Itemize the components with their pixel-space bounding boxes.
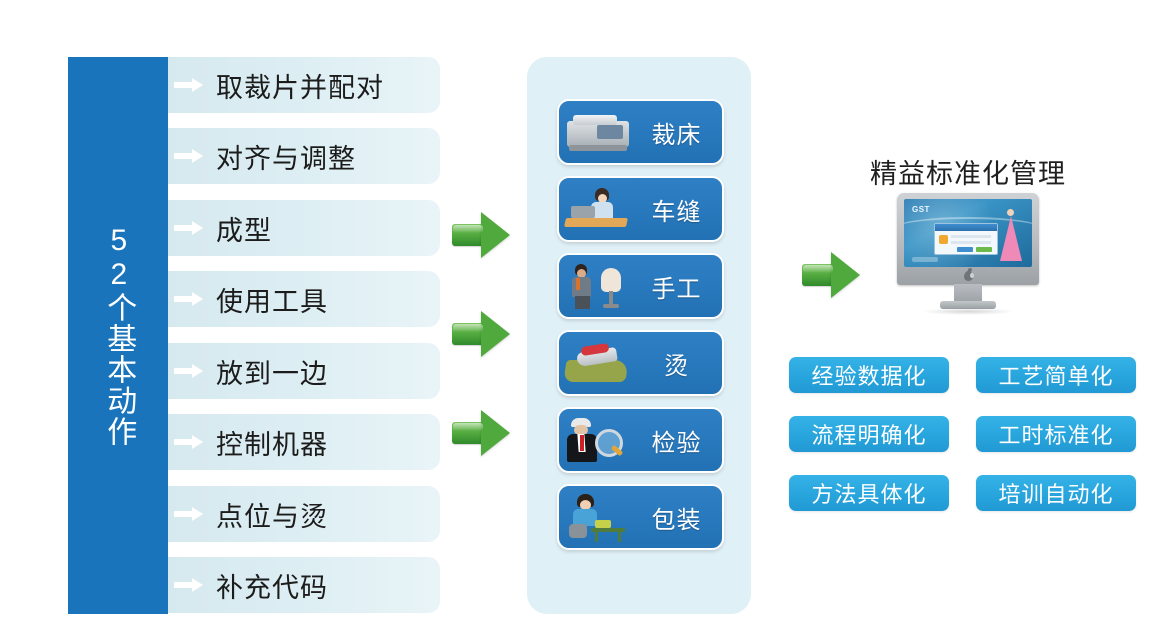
tailor-mannequin-icon	[561, 259, 635, 313]
process-step-box[interactable]: 检验	[557, 407, 724, 473]
login-submit-button	[957, 247, 973, 252]
process-step-box[interactable]: 裁床	[557, 99, 724, 165]
flow-arrow-1	[452, 212, 510, 258]
arrow-right-icon	[174, 505, 208, 523]
flow-arrow-3	[452, 410, 510, 456]
action-row[interactable]: 取裁片并配对	[168, 57, 440, 113]
action-row[interactable]: 控制机器	[168, 414, 440, 470]
action-row[interactable]: 成型	[168, 200, 440, 256]
screen-footer-bar	[912, 257, 938, 262]
benefit-tag[interactable]: 工艺简单化	[976, 357, 1136, 393]
arrow-head	[481, 311, 510, 357]
basic-actions-bar-label: 52个基本动作	[68, 57, 168, 614]
cutting-machine-icon	[561, 105, 635, 159]
process-step-label: 裁床	[635, 115, 722, 150]
figure-skirt	[1000, 216, 1022, 261]
action-row[interactable]: 对齐与调整	[168, 128, 440, 184]
arrow-right-icon	[174, 76, 208, 94]
process-step-label: 烫	[635, 346, 722, 381]
monitor-bezel: GST	[897, 193, 1039, 285]
process-step-box[interactable]: 包装	[557, 484, 724, 550]
arrow-gloss	[453, 423, 483, 431]
screen-brand-logo: GST	[912, 205, 930, 214]
benefit-tag[interactable]: 方法具体化	[789, 475, 949, 511]
arrow-head	[831, 252, 860, 298]
arrow-right-icon	[174, 362, 208, 380]
process-panel: 裁床车缝手工烫检验包装	[527, 57, 751, 614]
action-row-label: 补充代码	[216, 566, 328, 605]
login-field-row	[951, 235, 991, 238]
monitor-shadow	[921, 308, 1015, 315]
benefit-tag[interactable]: 流程明确化	[789, 416, 949, 452]
arrow-right-icon	[174, 290, 208, 308]
action-row-label: 对齐与调整	[216, 137, 356, 176]
basic-actions-section: 52个基本动作 取裁片并配对对齐与调整成型使用工具放到一边控制机器点位与烫补充代…	[68, 57, 440, 614]
action-list: 取裁片并配对对齐与调整成型使用工具放到一边控制机器点位与烫补充代码	[168, 57, 440, 614]
arrow-gloss	[453, 225, 483, 233]
screen-login-dialog	[934, 223, 998, 255]
inspector-magnifier-icon	[561, 413, 635, 467]
lean-management-title: 精益标准化管理	[858, 152, 1078, 191]
figure-head	[1007, 209, 1014, 216]
process-step-label: 车缝	[635, 192, 722, 227]
flow-arrow-2	[452, 311, 510, 357]
arrow-gloss	[803, 265, 833, 273]
action-row-label: 成型	[216, 209, 272, 248]
arrow-right-icon	[174, 219, 208, 237]
arrow-head	[481, 410, 510, 456]
action-row[interactable]: 点位与烫	[168, 486, 440, 542]
apple-logo-icon	[964, 271, 973, 281]
benefit-tags-group: 经验数据化工艺简单化流程明确化工时标准化方法具体化培训自动化	[789, 357, 1153, 517]
basic-actions-bar: 52个基本动作	[68, 57, 168, 614]
imac-monitor-icon: GST	[897, 193, 1039, 313]
arrow-head	[481, 212, 510, 258]
process-step-label: 手工	[635, 269, 722, 304]
benefit-tag[interactable]: 工时标准化	[976, 416, 1136, 452]
process-step-box[interactable]: 车缝	[557, 176, 724, 242]
process-step-label: 检验	[635, 423, 722, 458]
action-row[interactable]: 使用工具	[168, 271, 440, 327]
diagram-canvas: 52个基本动作 取裁片并配对对齐与调整成型使用工具放到一边控制机器点位与烫补充代…	[0, 0, 1153, 632]
action-row-label: 控制机器	[216, 423, 328, 462]
monitor-chin	[904, 269, 1032, 282]
process-step-box[interactable]: 烫	[557, 330, 724, 396]
process-step-label: 包装	[635, 500, 722, 535]
action-row-label: 点位与烫	[216, 495, 328, 534]
sewing-worker-icon	[561, 182, 635, 236]
action-row[interactable]: 放到一边	[168, 343, 440, 399]
benefit-tag[interactable]: 培训自动化	[976, 475, 1136, 511]
login-field-row	[951, 241, 991, 244]
flow-arrow-to-system	[802, 252, 860, 298]
login-reset-button	[976, 247, 992, 252]
process-step-box[interactable]: 手工	[557, 253, 724, 319]
login-titlebar	[935, 224, 997, 231]
arrow-right-icon	[174, 576, 208, 594]
action-row-label: 取裁片并配对	[216, 66, 384, 105]
action-row-label: 放到一边	[216, 352, 328, 391]
iron-pressing-icon	[561, 336, 635, 390]
packing-worker-icon	[561, 490, 635, 544]
action-row-label: 使用工具	[216, 280, 328, 319]
arrow-gloss	[453, 324, 483, 332]
benefit-tag[interactable]: 经验数据化	[789, 357, 949, 393]
arrow-right-icon	[174, 433, 208, 451]
login-avatar-icon	[939, 235, 948, 244]
screen-dress-figure-icon	[1000, 209, 1022, 261]
action-row[interactable]: 补充代码	[168, 557, 440, 613]
monitor-screen: GST	[904, 199, 1032, 267]
arrow-right-icon	[174, 147, 208, 165]
